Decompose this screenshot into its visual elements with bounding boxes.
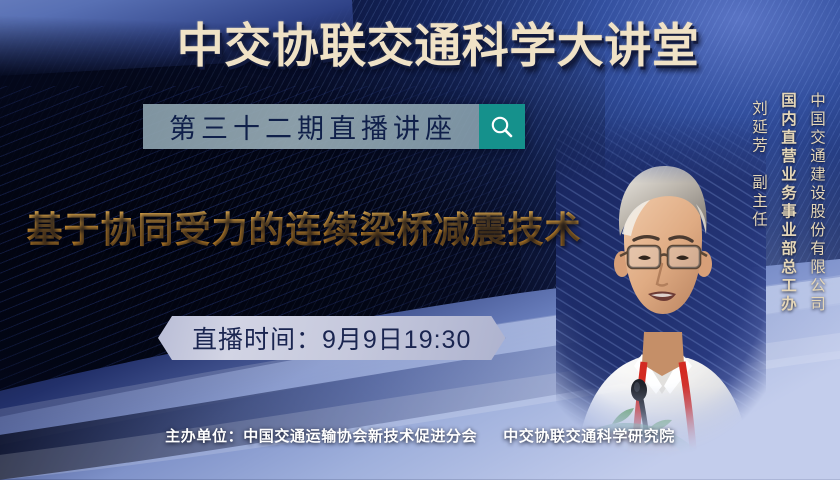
footer-organizer-1: 中国交通运输协会新技术促进分会 xyxy=(243,428,477,445)
lecture-topic: 基于协同受力的连续梁桥减震技术 xyxy=(16,207,592,253)
session-subtitle-bar: 第三十二期直播讲座 xyxy=(143,104,525,149)
speaker-credits: 中国交通建设股份有限公司 国内直营业务事业部总工办 刘延芳 副主任 xyxy=(733,92,828,422)
search-icon[interactable] xyxy=(479,104,525,149)
speaker-department: 国内直营业务事业部总工办 xyxy=(776,92,799,314)
footer-organizer-2: 中交协联交通科学研究院 xyxy=(503,428,675,445)
footer-organizers: 主办单位：中国交通运输协会新技术促进分会中交协联交通科学研究院 xyxy=(0,425,840,446)
footer-prefix: 主办单位： xyxy=(165,428,243,445)
session-subtitle-label: 第三十二期直播讲座 xyxy=(143,104,479,149)
speaker-name-title: 刘延芳 副主任 xyxy=(747,92,770,230)
main-title: 中交协联交通科学大讲堂 xyxy=(138,17,738,75)
speaker-company: 中国交通建设股份有限公司 xyxy=(805,92,828,314)
broadcast-time-badge: 直播时间：9月9日19:30 xyxy=(158,316,505,360)
webinar-poster: 中交协联交通科学大讲堂 第三十二期直播讲座 基于协同受力的连续梁桥减震技术 直播… xyxy=(0,0,840,480)
